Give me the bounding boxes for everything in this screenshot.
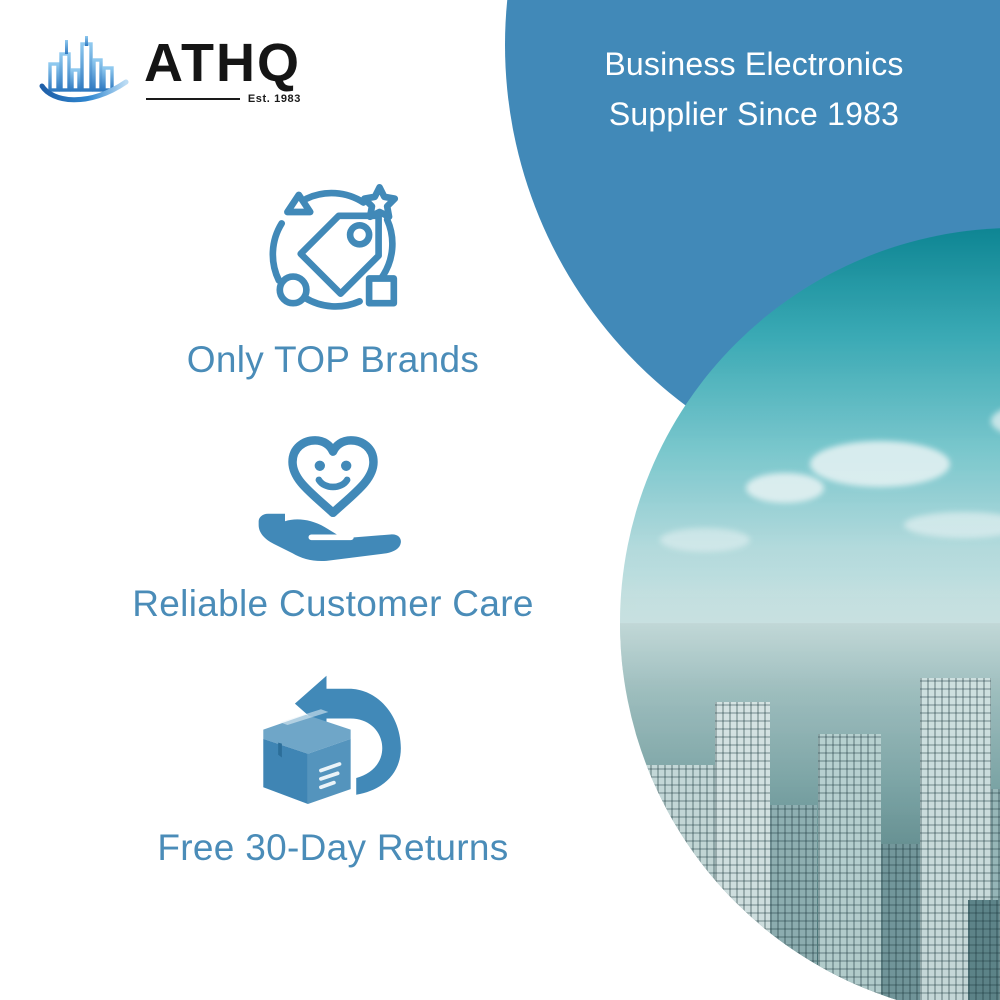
features-list: Only TOP Brands Reliable Customer Care bbox=[0, 175, 666, 869]
tagline-line-2: Supplier Since 1983 bbox=[534, 90, 974, 140]
box-return-arrow-icon bbox=[254, 663, 412, 813]
hand-holding-smiling-heart-icon bbox=[253, 419, 413, 569]
logo-divider bbox=[146, 98, 240, 100]
brand-logo[interactable]: ATHQ Est. 1983 bbox=[38, 34, 301, 106]
brand-name: ATHQ bbox=[144, 36, 301, 90]
price-tag-shapes-icon bbox=[257, 175, 409, 325]
header-tagline: Business Electronics Supplier Since 1983 bbox=[534, 40, 974, 139]
feature-item-customer-care: Reliable Customer Care bbox=[132, 419, 533, 625]
feature-item-brands: Only TOP Brands bbox=[187, 175, 479, 381]
feature-label-brands: Only TOP Brands bbox=[187, 339, 479, 381]
photo-color-tint bbox=[620, 228, 1000, 1000]
established-text: Est. 1983 bbox=[248, 93, 301, 105]
promo-graphic: Business Electronics Supplier Since 1983 bbox=[0, 0, 1000, 1000]
feature-item-returns: Free 30-Day Returns bbox=[157, 663, 508, 869]
city-skyline-swoosh-icon bbox=[38, 34, 130, 106]
tagline-line-1: Business Electronics bbox=[534, 40, 974, 90]
aerial-city-skyline-photo bbox=[620, 228, 1000, 1000]
feature-label-customer-care: Reliable Customer Care bbox=[132, 583, 533, 625]
feature-label-returns: Free 30-Day Returns bbox=[157, 827, 508, 869]
